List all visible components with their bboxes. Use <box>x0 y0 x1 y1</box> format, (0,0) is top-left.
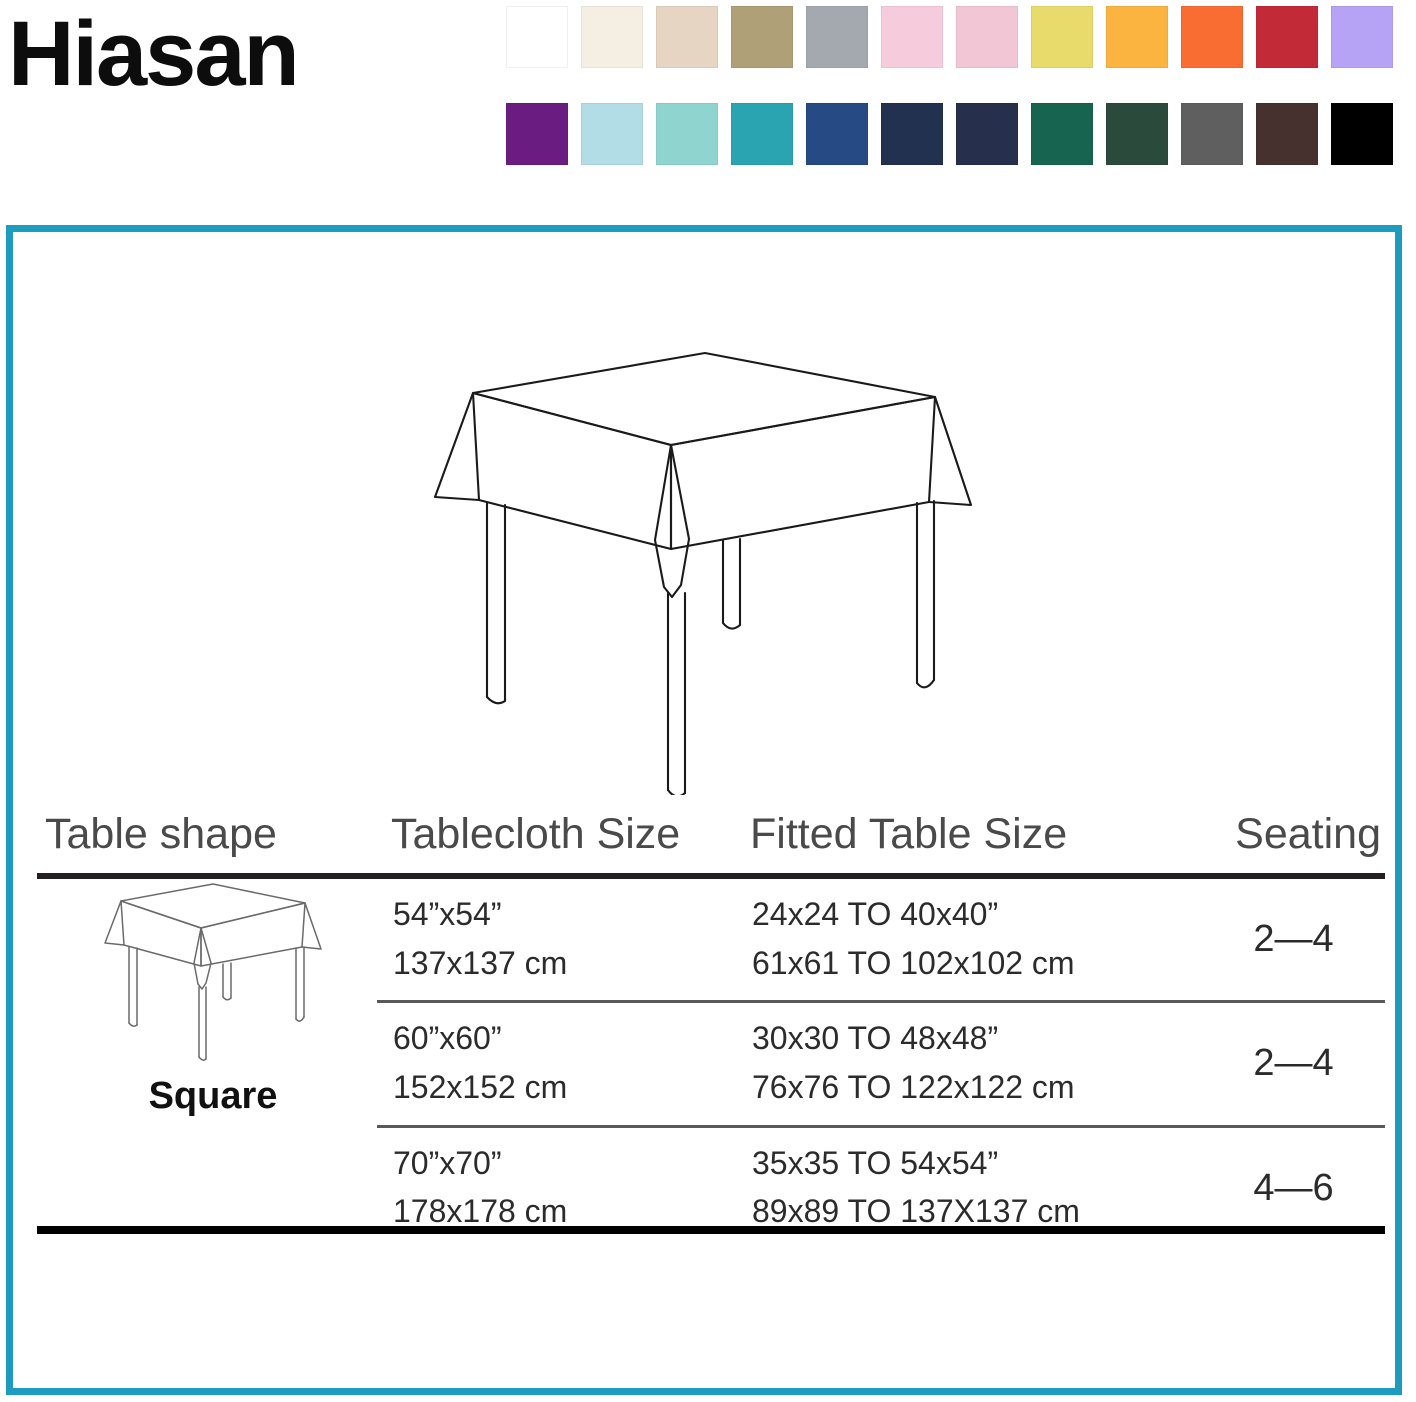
column-header-tablecloth-size: Tablecloth Size <box>377 810 742 876</box>
size-chart-table: Table shape Tablecloth Size Fitted Table… <box>37 810 1385 1249</box>
cloth-size-cell: 60”x60” 152x152 cm <box>377 1002 742 1126</box>
cloth-size-inches: 60”x60” <box>393 1014 742 1063</box>
cloth-size-cm: 137x137 cm <box>393 939 742 988</box>
column-header-table-shape: Table shape <box>37 810 377 876</box>
color-swatch-charcoal[interactable] <box>1181 103 1243 165</box>
color-swatch-yellow[interactable] <box>1031 6 1093 68</box>
color-swatch-light-blue[interactable] <box>581 103 643 165</box>
seating-cell: 2—4 <box>1212 1002 1385 1126</box>
table-header-row: Table shape Tablecloth Size Fitted Table… <box>37 810 1385 876</box>
column-header-fitted-table-size: Fitted Table Size <box>742 810 1212 876</box>
color-swatch-gold[interactable] <box>1106 6 1168 68</box>
square-table-with-tablecloth-illustration <box>423 335 983 795</box>
color-swatch-lavender[interactable] <box>1331 6 1393 68</box>
color-swatch-orange[interactable] <box>1181 6 1243 68</box>
fitted-size-inches: 30x30 TO 48x48” <box>752 1014 1212 1063</box>
color-swatch-taupe[interactable] <box>731 6 793 68</box>
color-swatch-midnight[interactable] <box>956 103 1018 165</box>
cloth-size-cm: 152x152 cm <box>393 1063 742 1112</box>
color-swatch-green[interactable] <box>1031 103 1093 165</box>
fitted-size-cm: 61x61 TO 102x102 cm <box>752 939 1212 988</box>
color-swatch-grid <box>506 6 1410 165</box>
cloth-size-inches: 54”x54” <box>393 890 742 939</box>
shape-cell: Square <box>37 876 377 1249</box>
color-swatch-purple[interactable] <box>506 103 568 165</box>
color-swatch-black[interactable] <box>1331 103 1393 165</box>
column-header-seating: Seating <box>1212 810 1385 876</box>
table-row: Square 54”x54” 137x137 cm 24x24 TO 40x40… <box>37 876 1385 1002</box>
seating-cell: 2—4 <box>1212 876 1385 1002</box>
color-swatch-dark-navy[interactable] <box>881 103 943 165</box>
fitted-size-cell: 24x24 TO 40x40” 61x61 TO 102x102 cm <box>742 876 1212 1002</box>
cloth-size-inches: 70”x70” <box>393 1139 742 1188</box>
brand-logo: Hiasan <box>8 8 298 100</box>
color-swatch-brown[interactable] <box>1256 103 1318 165</box>
shape-label: Square <box>63 1075 363 1118</box>
color-swatch-red[interactable] <box>1256 6 1318 68</box>
cloth-size-cell: 54”x54” 137x137 cm <box>377 876 742 1002</box>
fitted-size-cm: 76x76 TO 122x122 cm <box>752 1063 1212 1112</box>
fitted-size-inches: 35x35 TO 54x54” <box>752 1139 1212 1188</box>
table-bottom-rule <box>37 1226 1385 1234</box>
color-swatch-dark-green[interactable] <box>1106 103 1168 165</box>
size-chart-panel: Table shape Tablecloth Size Fitted Table… <box>6 225 1402 1395</box>
color-swatch-light-pink[interactable] <box>881 6 943 68</box>
fitted-size-inches: 24x24 TO 40x40” <box>752 890 1212 939</box>
color-swatch-pink[interactable] <box>956 6 1018 68</box>
color-swatch-cream[interactable] <box>581 6 643 68</box>
color-swatch-white[interactable] <box>506 6 568 68</box>
color-swatch-gray[interactable] <box>806 6 868 68</box>
color-swatch-beige[interactable] <box>656 6 718 68</box>
color-swatch-aqua[interactable] <box>656 103 718 165</box>
top-bar: Hiasan <box>0 0 1416 200</box>
color-swatch-teal[interactable] <box>731 103 793 165</box>
color-swatch-navy-blue[interactable] <box>806 103 868 165</box>
fitted-size-cell: 30x30 TO 48x48” 76x76 TO 122x122 cm <box>742 1002 1212 1126</box>
